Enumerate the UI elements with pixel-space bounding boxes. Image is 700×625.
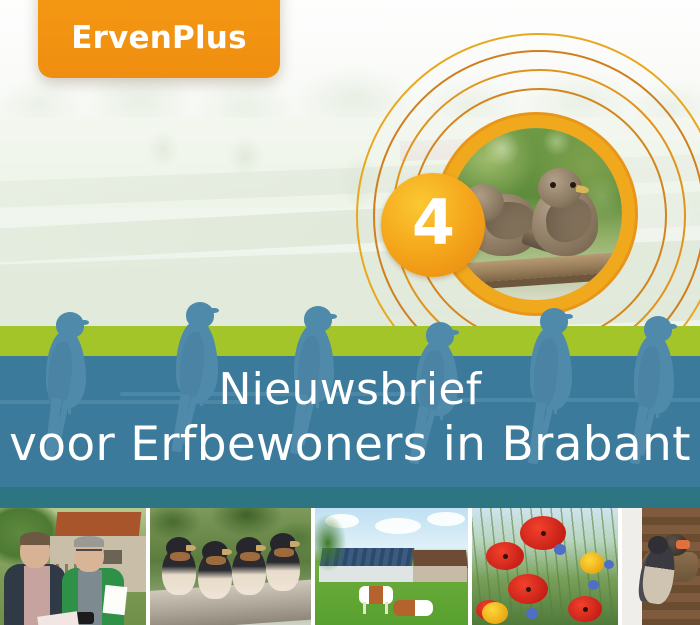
photo-wildflower-meadow	[472, 508, 618, 625]
photo1-man2-glasses	[76, 549, 102, 556]
photo4-cornflower	[588, 580, 599, 590]
photo-swallow-at-nest	[622, 508, 700, 625]
swallow-throat	[240, 552, 260, 561]
photo4-cornflower	[526, 608, 538, 619]
swallow-beak	[450, 330, 459, 335]
photo1-man1-hair	[20, 532, 50, 545]
photo-swallows-on-log	[150, 508, 311, 625]
issue-number-label: 4	[412, 192, 454, 258]
swallow-beak	[564, 314, 573, 319]
photo-men-with-clipboard	[0, 508, 146, 625]
photo3-barn2	[413, 566, 467, 582]
photo5-adult-head	[648, 536, 668, 554]
sparrow-right-eye-2	[570, 182, 576, 188]
swallow-throat	[170, 552, 190, 561]
photo4-yellow-flower	[580, 552, 604, 574]
photo5-chick-gape	[676, 540, 690, 549]
swallow-throat	[206, 556, 226, 565]
swallow-beak	[668, 324, 677, 329]
ervenplus-logo-label: ErvenPlus	[71, 20, 246, 78]
photo-cows-solar-barn	[315, 508, 467, 625]
photo1-roof	[55, 512, 142, 538]
bottom-photo-strip	[0, 508, 700, 625]
photo3-cloud	[375, 518, 421, 534]
newsletter-title: Nieuwsbrief voor Erfbewoners in Brabant	[0, 368, 700, 468]
teal-divider-strip	[0, 487, 700, 508]
photo4-cornflower	[604, 560, 614, 569]
photo3-cow-leg	[385, 602, 388, 614]
photo3-cow-lying	[393, 600, 433, 616]
photo1-man2-hair	[74, 536, 104, 547]
title-line-2: voor Erfbewoners in Brabant	[0, 421, 700, 468]
photo1-camera	[76, 612, 94, 624]
photo4-poppy	[568, 596, 602, 622]
newsletter-header: 4 ErvenPlus	[0, 0, 700, 625]
photo3-tree	[315, 508, 353, 586]
swallow-beak	[80, 320, 89, 325]
photo4-yellow-flower	[482, 602, 508, 624]
photo1-clipboard	[103, 585, 128, 615]
swallow-beak	[328, 314, 337, 319]
photo4-poppy	[508, 574, 548, 604]
swallow-beak	[210, 308, 219, 313]
photo3-cloud	[427, 512, 465, 526]
photo3-cow-leg	[363, 602, 366, 614]
ervenplus-logo[interactable]: ErvenPlus	[38, 0, 280, 78]
issue-number-badge: 4	[381, 173, 485, 277]
photo4-cornflower	[554, 544, 566, 555]
swallow-throat	[274, 548, 294, 557]
photo4-poppy	[486, 542, 524, 570]
title-line-1: Nieuwsbrief	[0, 368, 700, 412]
sparrow-right-eye	[550, 182, 556, 188]
